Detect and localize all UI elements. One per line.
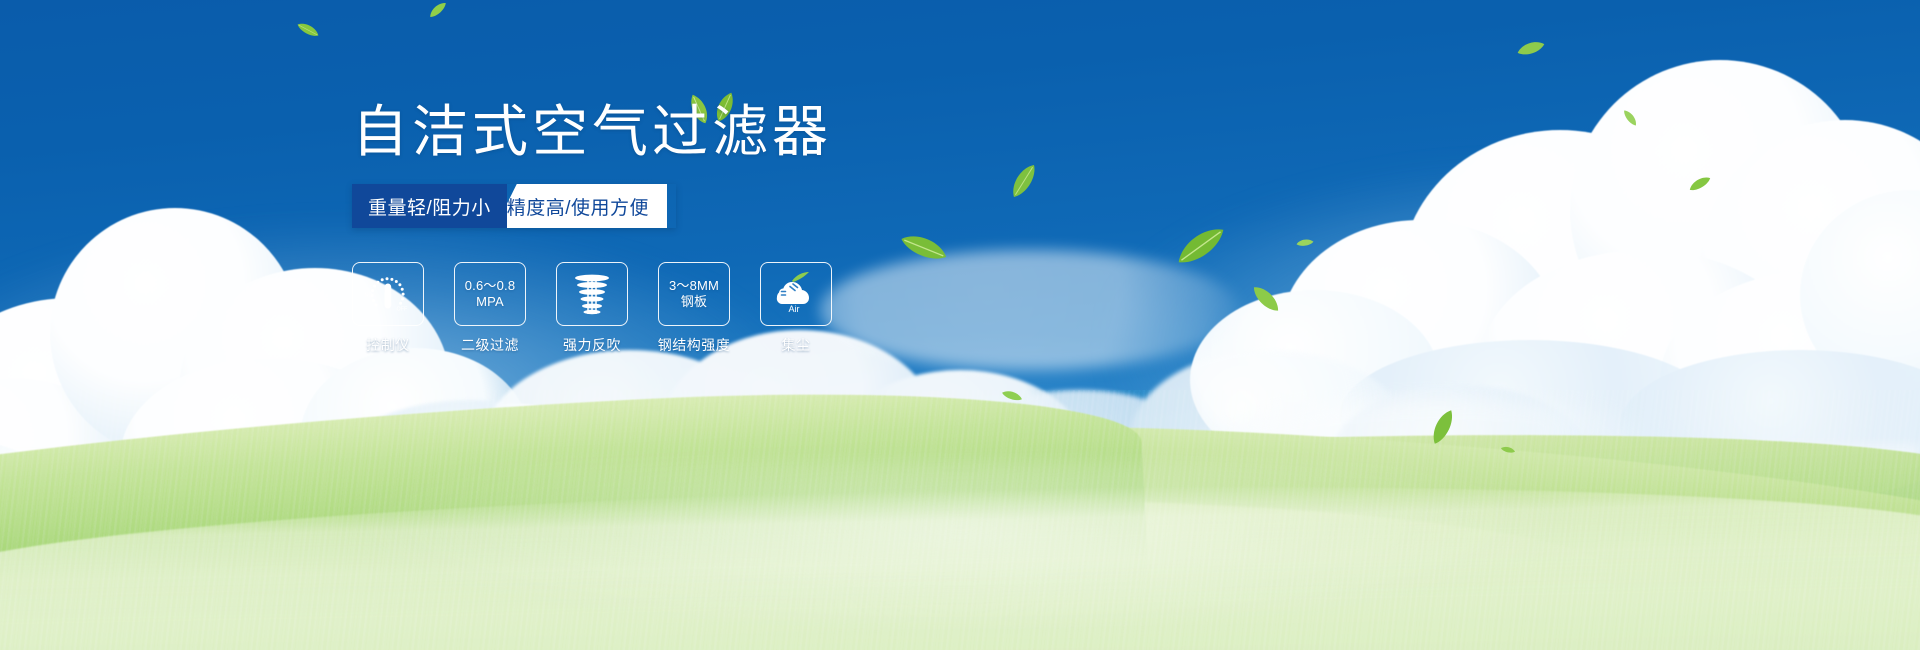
feature-list: NO OFF 控制仪 0.6～0.8 MPA 二级过滤 [352, 262, 972, 355]
feature-caption: 钢结构强度 [658, 335, 731, 355]
feature-box: 0.6～0.8 MPA [454, 262, 526, 326]
feature-item-two-stage-filter[interactable]: 0.6～0.8 MPA 二级过滤 [454, 262, 526, 355]
pressure-text-icon: 0.6～0.8 MPA [465, 278, 516, 309]
feature-caption: 控制仪 [366, 335, 410, 355]
feature-item-dust-collection[interactable]: Air 集尘 [760, 262, 832, 355]
cloud-air-icon: Air [769, 271, 823, 317]
feature-box: 3～8MM 钢板 [658, 262, 730, 326]
feature-item-strong-blowback[interactable]: 强力反吹 [556, 262, 628, 355]
tagline-bar: 重量轻/阻力小 精度高/使用方便 [352, 184, 676, 228]
feature-caption: 二级过滤 [461, 335, 519, 355]
grass-landscape [0, 350, 1920, 650]
banner-content: 自洁式空气过滤器 重量轻/阻力小 精度高/使用方便 [352, 104, 972, 355]
feature-box [556, 262, 628, 326]
steel-plate-text-icon: 3～8MM 钢板 [669, 278, 719, 309]
filter-coil-icon [569, 271, 615, 317]
feature-caption: 集尘 [782, 335, 811, 355]
svg-text:OFF: OFF [397, 307, 408, 313]
feature-caption: 强力反吹 [563, 335, 621, 355]
tagline-primary: 重量轻/阻力小 [352, 184, 507, 228]
tagline-secondary: 精度高/使用方便 [495, 184, 667, 228]
page-title: 自洁式空气过滤器 [352, 104, 972, 160]
feature-box: NO OFF [352, 262, 424, 326]
gauge-dial-icon: NO OFF [361, 270, 415, 318]
feature-item-steel-strength[interactable]: 3～8MM 钢板 钢结构强度 [658, 262, 730, 355]
product-banner: 自洁式空气过滤器 重量轻/阻力小 精度高/使用方便 [0, 0, 1920, 650]
feature-box: Air [760, 262, 832, 326]
feature-item-control-gauge[interactable]: NO OFF 控制仪 [352, 262, 424, 355]
svg-text:NO: NO [365, 293, 373, 299]
svg-text:Air: Air [789, 304, 800, 314]
meadow-glow [346, 460, 1575, 630]
